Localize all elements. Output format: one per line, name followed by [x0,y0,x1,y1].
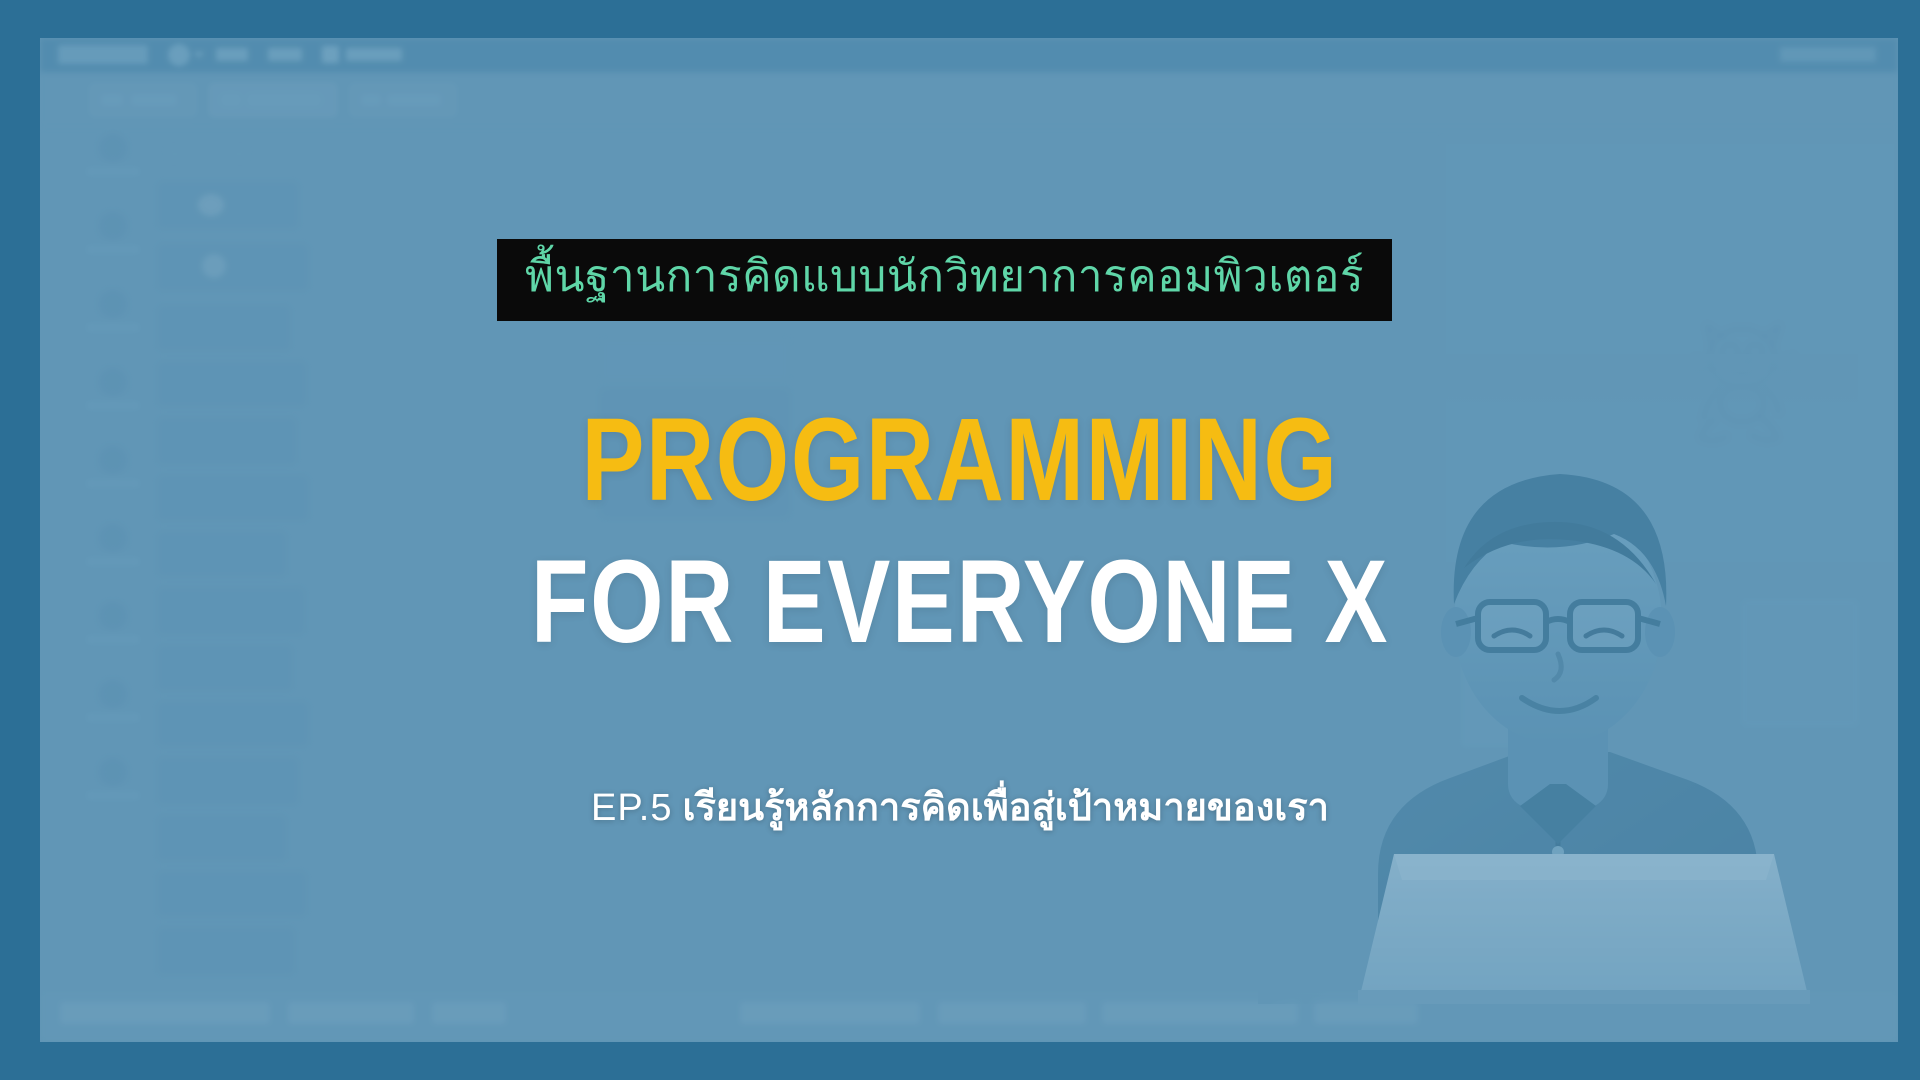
title-banner-text: พื้นฐานการคิดแบบนักวิทยาการคอมพิวเตอร์ [525,255,1364,299]
title-banner: พื้นฐานการคิดแบบนักวิทยาการคอมพิวเตอร์ [497,239,1392,321]
headline-line-1: PROGRAMMING [192,406,1728,515]
video-thumbnail-poster: พื้นฐานการคิดแบบนักวิทยาการคอมพิวเตอร์ P… [0,0,1920,1080]
poster-text-content: พื้นฐานการคิดแบบนักวิทยาการคอมพิวเตอร์ P… [0,0,1920,1080]
subtitle: EP.5เรียนรู้หลักการคิดเพื่อสู่เป้าหมายขอ… [0,776,1920,837]
headline-line-2: FOR EVERYONE X [192,548,1728,657]
subtitle-text: เรียนรู้หลักการคิดเพื่อสู่เป้าหมายของเรา [682,787,1329,829]
episode-number: EP.5 [591,787,672,829]
